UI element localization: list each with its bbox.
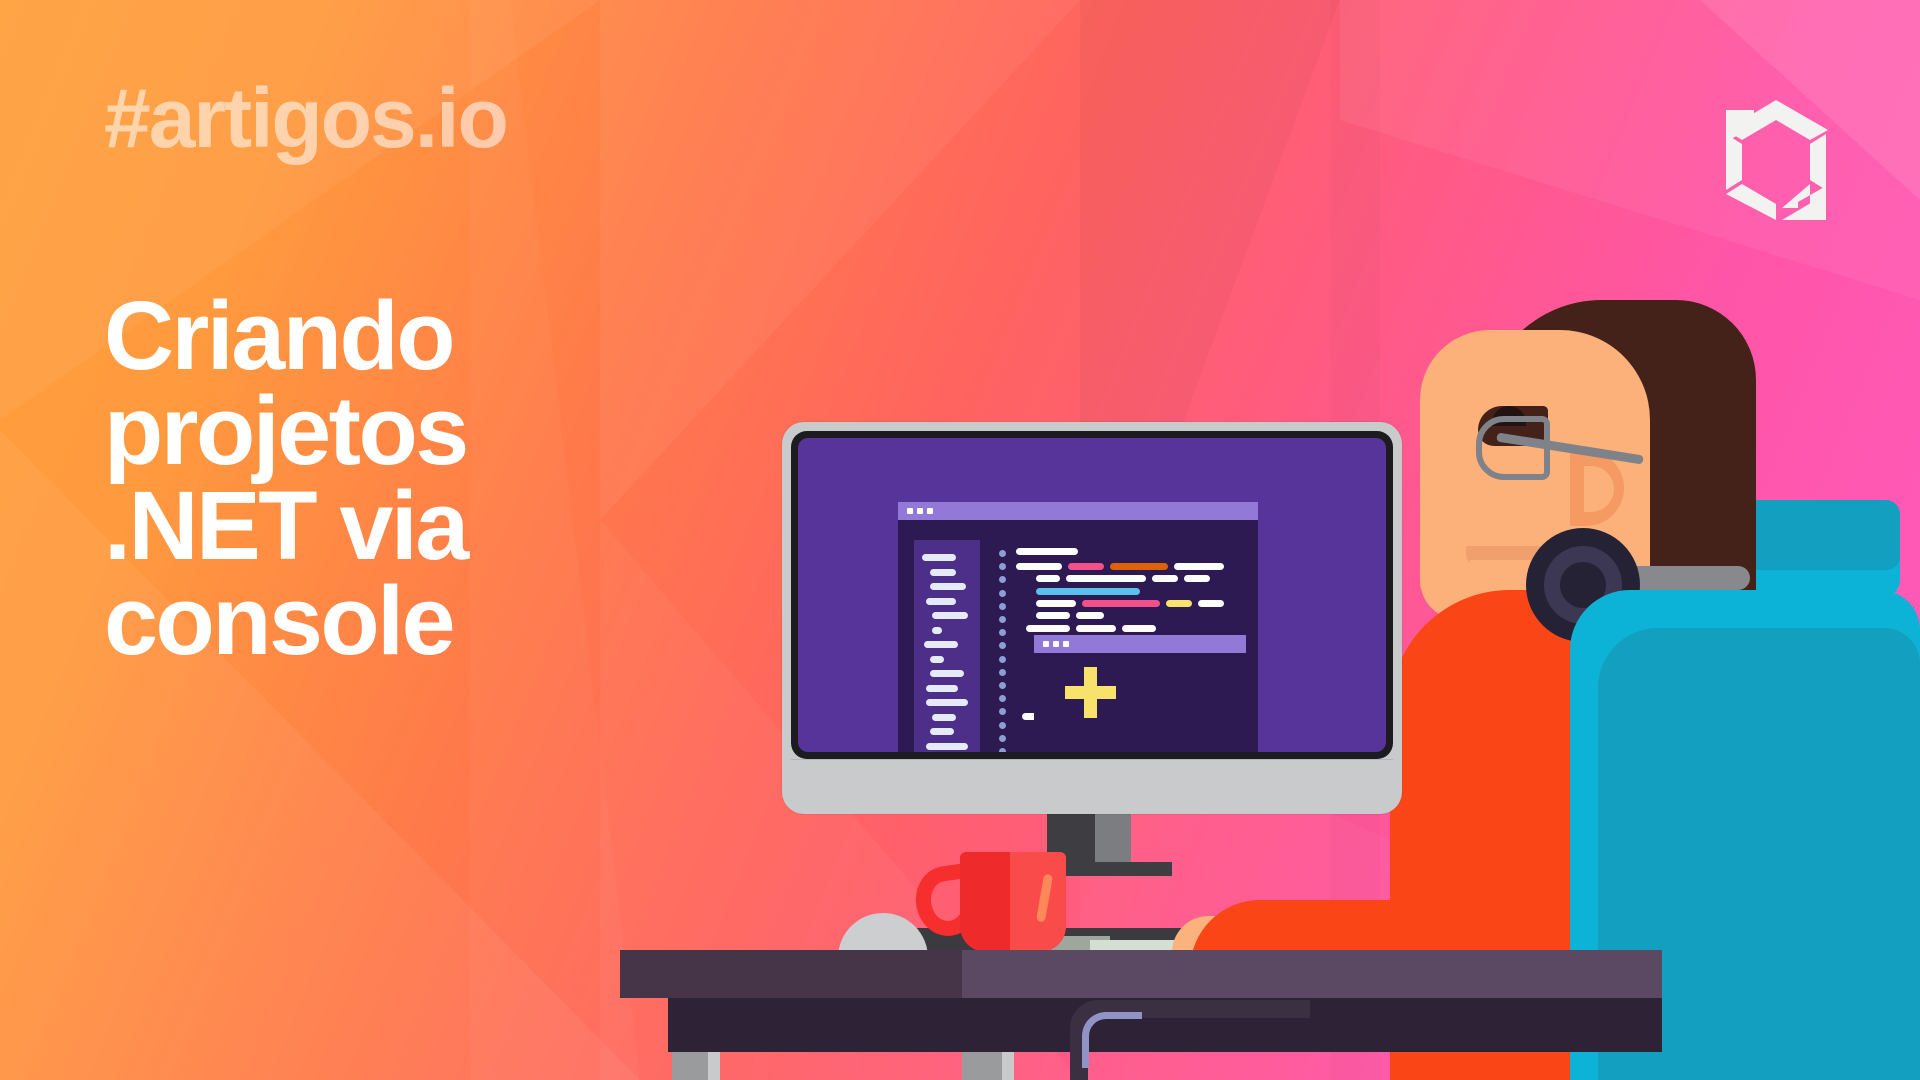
code-token [1122,625,1156,632]
window-dot-2 [917,508,923,514]
line-number-dot [999,563,1006,570]
code-token [1166,600,1192,607]
code-token [1174,563,1224,570]
window-dot-1 [907,508,913,514]
file-tree-row[interactable] [924,641,958,648]
code-token [1076,612,1104,619]
page-title: Criando projetos .NET via console [104,288,664,668]
desk-leg-right [962,1052,1002,1080]
code-token [1066,575,1146,582]
file-tree-row[interactable] [922,554,956,561]
line-number-dot [999,616,1006,623]
monitor-screen [798,438,1386,752]
file-tree-row[interactable] [926,598,956,605]
new-project-window[interactable] [1034,635,1246,752]
chair-armrest-highlight [1082,1012,1142,1068]
file-tree-row[interactable] [926,699,968,706]
desktop-monitor [782,422,1402,814]
title-line-2: projetos [104,383,664,478]
cover-illustration: #artigos.io Criando projetos .NET via co… [0,0,1920,1080]
code-token [1036,575,1060,582]
monitor-chin [791,759,1393,805]
title-line-1: Criando [104,288,664,383]
file-tree-sidebar[interactable] [914,540,980,752]
code-token [1184,575,1210,582]
new-project-titlebar[interactable] [1034,635,1246,653]
line-number-dot [999,735,1006,742]
code-token [1016,548,1078,555]
code-window-titlebar[interactable] [898,502,1258,520]
file-tree-row[interactable] [930,583,966,590]
file-tree-row[interactable] [930,670,964,677]
line-number-dot [999,656,1006,663]
file-tree-row[interactable] [930,728,954,735]
line-number-dot [999,722,1006,729]
desk-leg-left-light [708,1052,720,1080]
window-dot-3 [927,508,933,514]
code-token [1110,563,1168,570]
coffee-mug-highlight-side [1010,852,1066,952]
title-line-4: console [104,573,664,668]
code-token [1016,563,1062,570]
code-token [1082,600,1160,607]
line-number-dot [999,748,1006,752]
code-token [1036,612,1070,619]
file-tree-row[interactable] [926,685,958,692]
title-line-3: .NET via [104,478,664,573]
plus-icon-bar [1065,686,1116,699]
artigos-hexagon-cube-logo [1716,96,1836,224]
line-number-dot [999,550,1006,557]
file-tree-row[interactable] [930,656,944,663]
code-token [1036,600,1076,607]
window-dot-3 [1063,641,1069,647]
desk-leg-left [672,1052,708,1080]
brand-watermark: #artigos.io [104,76,507,160]
file-tree-row[interactable] [932,714,956,721]
monitor-bezel [791,431,1393,759]
line-number-dot [999,642,1006,649]
line-number-dot [999,682,1006,689]
desk-top-left [620,950,962,998]
code-token [1152,575,1178,582]
line-number-dot [999,603,1006,610]
line-number-dot [999,576,1006,583]
line-number-dot [999,695,1006,702]
line-number-dot [999,590,1006,597]
window-dot-2 [1053,641,1059,647]
file-tree-row[interactable] [926,743,968,750]
code-token [1198,600,1224,607]
file-tree-row[interactable] [930,569,956,576]
code-token [1076,625,1116,632]
code-token [1026,625,1070,632]
line-number-dot [999,629,1006,636]
code-token [1068,563,1104,570]
desk-top-right [962,950,1662,998]
code-token [1036,588,1140,595]
file-tree-row[interactable] [932,627,942,634]
line-number-dot [999,708,1006,715]
file-tree-row[interactable] [932,612,968,619]
line-number-dot [999,669,1006,676]
desk-leg-right-light [1002,1052,1014,1080]
window-dot-1 [1043,641,1049,647]
monitor-stand-neck-right [1095,806,1131,866]
